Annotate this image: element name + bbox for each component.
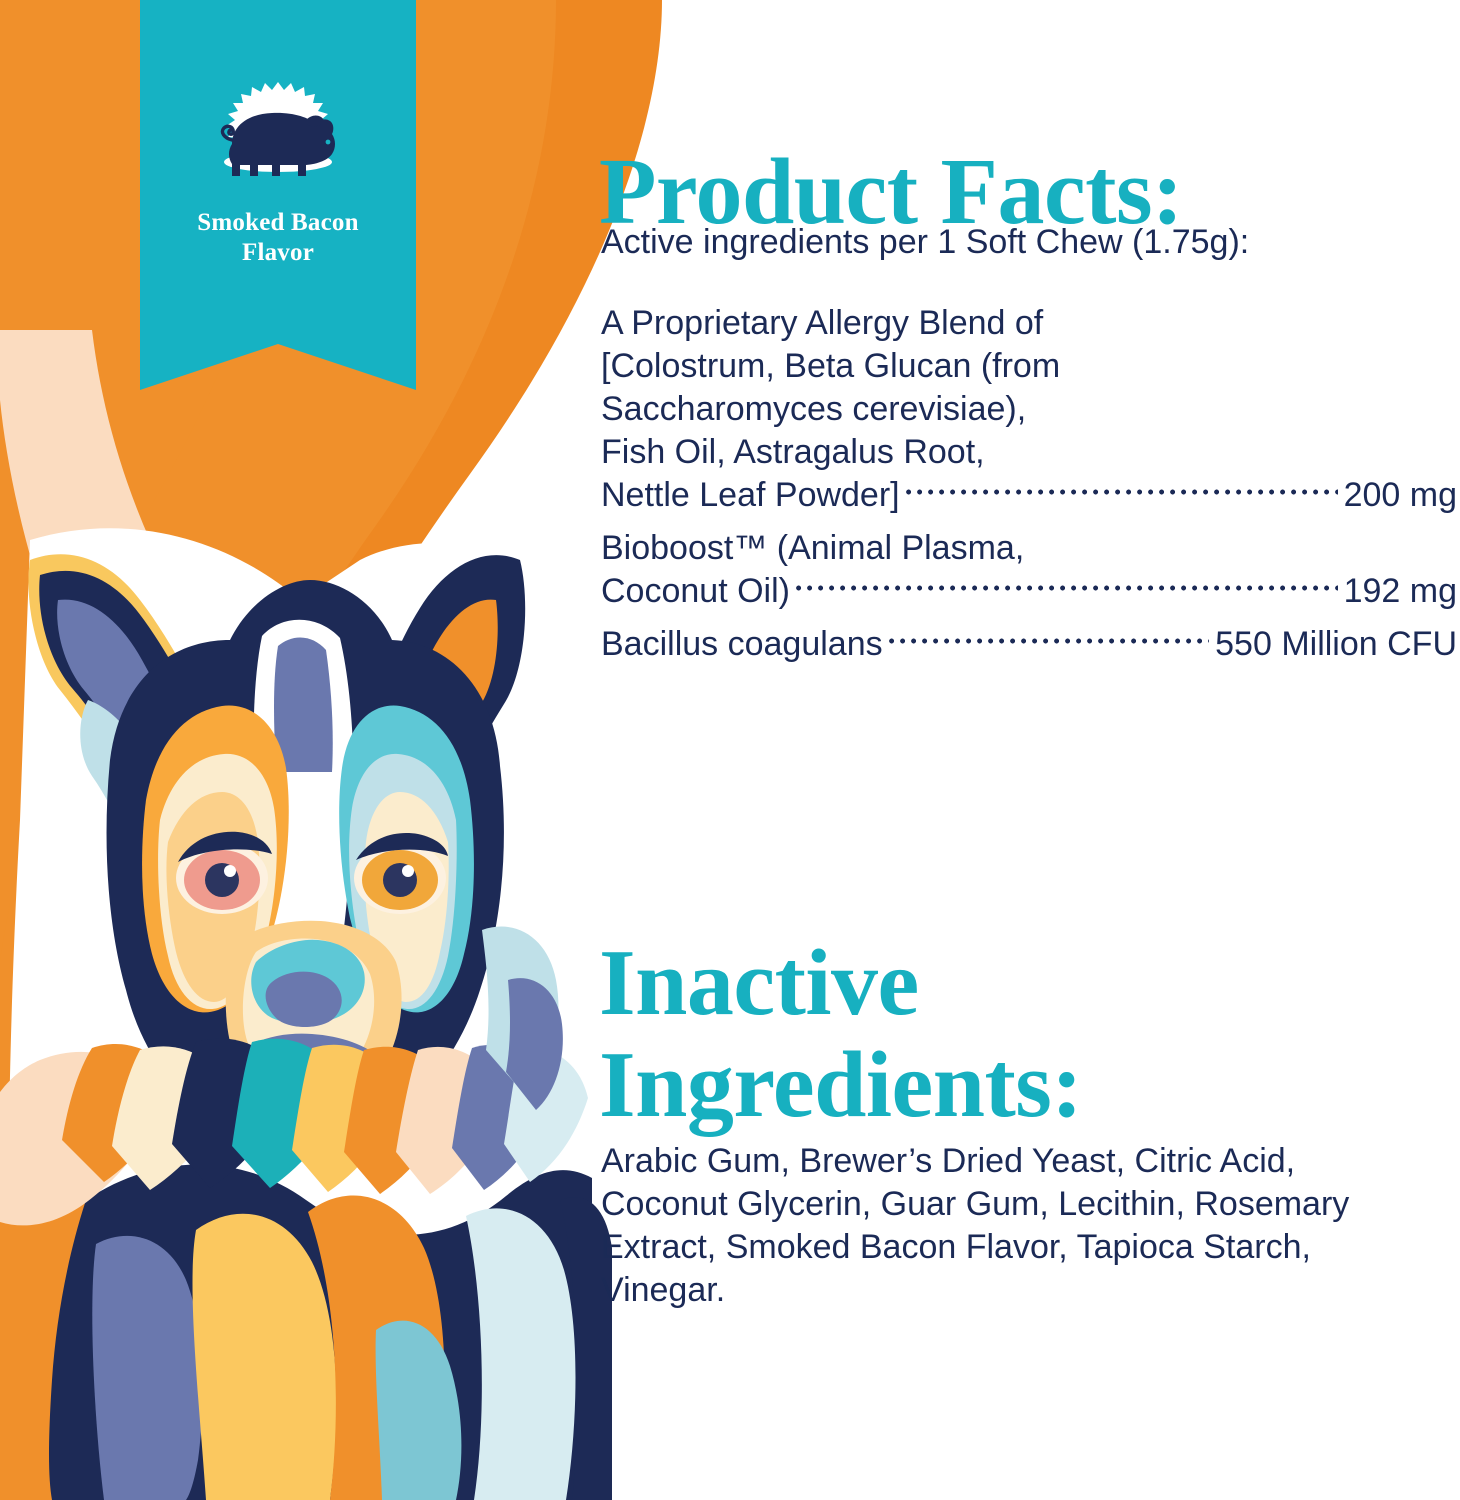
pig-sunburst-badge-icon bbox=[140, 72, 416, 202]
dot-leader bbox=[906, 479, 1338, 505]
active-ingredients-list: A Proprietary Allergy Blend of [Colostru… bbox=[601, 302, 1457, 666]
product-facts-label: Smoked Bacon Flavor Product Facts: Activ… bbox=[0, 0, 1460, 1500]
ingredient-amount: 200 mg bbox=[1344, 474, 1457, 517]
serving-size-line: Active ingredients per 1 Soft Chew (1.75… bbox=[601, 222, 1249, 263]
ingredient-amount-row: Nettle Leaf Powder] 200 mg bbox=[601, 474, 1457, 517]
active-ingredient-row: A Proprietary Allergy Blend of [Colostru… bbox=[601, 302, 1457, 517]
ingredient-name-last: Coconut Oil) bbox=[601, 570, 790, 613]
ingredient-name-last: Nettle Leaf Powder] bbox=[601, 474, 900, 517]
flavor-line-2: Flavor bbox=[140, 238, 416, 268]
ingredient-name-line: Fish Oil, Astragalus Root, bbox=[601, 431, 1457, 474]
ingredient-name-last: Bacillus coagulans bbox=[601, 623, 883, 666]
ingredient-amount-row: Bacillus coagulans 550 Million CFU bbox=[601, 623, 1457, 666]
ingredient-amount-row: Coconut Oil) 192 mg bbox=[601, 570, 1457, 613]
active-ingredient-row: Bacillus coagulans 550 Million CFU bbox=[601, 623, 1457, 666]
ingredient-amount: 192 mg bbox=[1344, 570, 1457, 613]
dot-leader bbox=[796, 575, 1338, 601]
ingredient-amount: 550 Million CFU bbox=[1215, 623, 1457, 666]
ingredient-name-line: Bioboost™ (Animal Plasma, bbox=[601, 527, 1457, 570]
inactive-ingredients-title: Inactive Ingredients: bbox=[599, 933, 1459, 1136]
flavor-line-1: Smoked Bacon bbox=[140, 208, 416, 238]
inactive-title-line-1: Inactive bbox=[599, 931, 919, 1035]
flavor-banner: Smoked Bacon Flavor bbox=[140, 0, 416, 390]
dog-illustration bbox=[0, 528, 612, 1500]
active-ingredient-row: Bioboost™ (Animal Plasma, Coconut Oil) 1… bbox=[601, 527, 1457, 613]
inactive-title-line-2: Ingredients: bbox=[599, 1033, 1082, 1137]
ingredient-name-line: Saccharomyces cerevisiae), bbox=[601, 388, 1457, 431]
flavor-label: Smoked Bacon Flavor bbox=[140, 208, 416, 267]
facts-text-column: Product Facts: Active ingredients per 1 … bbox=[597, 0, 1460, 1500]
ingredient-name-line: A Proprietary Allergy Blend of bbox=[601, 302, 1457, 345]
dot-leader bbox=[889, 628, 1210, 654]
ingredient-name-line: [Colostrum, Beta Glucan (from bbox=[601, 345, 1457, 388]
spacer bbox=[601, 613, 1457, 623]
spacer bbox=[601, 517, 1457, 527]
inactive-ingredients-body: Arabic Gum, Brewer’s Dried Yeast, Citric… bbox=[601, 1140, 1431, 1312]
